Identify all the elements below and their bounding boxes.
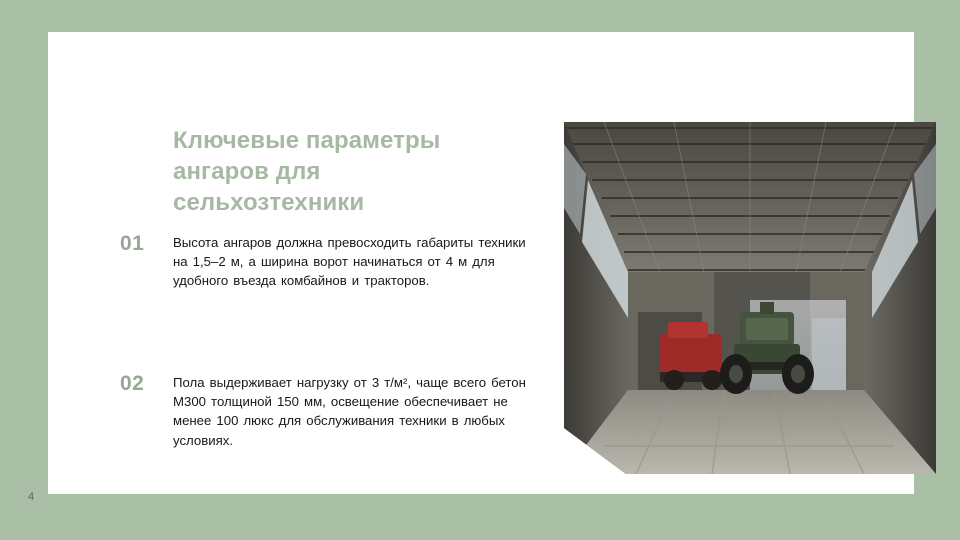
hangar-illustration [564,122,936,474]
page-number: 4 [28,491,34,503]
page-title: Ключевые параметры ангаров для сельхозте… [173,125,503,218]
hangar-interior-photo [564,122,936,474]
list-item-number: 02 [120,372,164,396]
slide-card: Ключевые параметры ангаров для сельхозте… [48,32,914,494]
list-item-text: Пола выдерживает нагрузку от 3 т/м², чащ… [173,373,545,450]
list-item-number: 01 [120,232,164,256]
list-item-text: Высота ангаров должна превосходить габар… [173,233,545,291]
slide: Ключевые параметры ангаров для сельхозте… [0,0,960,540]
